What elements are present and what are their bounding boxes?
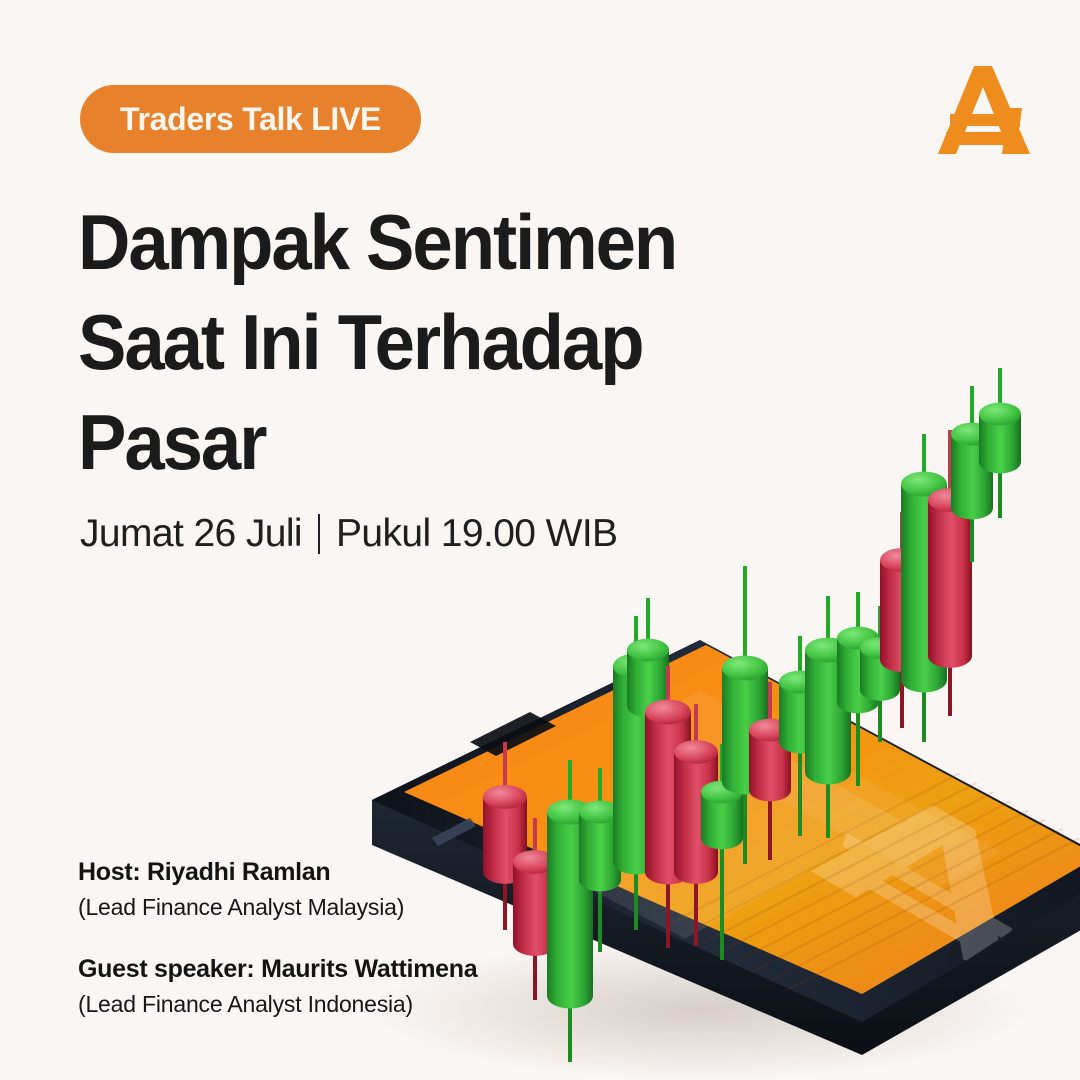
headline-line-1: Dampak Sentimen — [78, 192, 748, 292]
schedule-time: Pukul 19.00 WIB — [336, 512, 617, 556]
candle-1 — [483, 742, 527, 930]
candle-5 — [613, 616, 659, 930]
credit-guest: Guest speaker: Maurits Wattimena (Lead F… — [78, 955, 477, 1018]
candle-14 — [837, 592, 879, 786]
candle-10 — [722, 566, 768, 864]
speaker-credits: Host: Riyadhi Ramlan (Lead Finance Analy… — [78, 858, 477, 1018]
candle-18 — [928, 430, 972, 716]
candle-6 — [627, 598, 669, 760]
candle-15 — [860, 606, 900, 742]
candle-13 — [805, 596, 851, 838]
live-badge-label: Traders Talk LIVE — [120, 101, 381, 138]
candle-16 — [880, 512, 924, 728]
smartphone-icon — [372, 640, 1080, 1058]
credit-guest-role: (Lead Finance Analyst Indonesia) — [78, 991, 477, 1018]
candle-11 — [749, 682, 791, 860]
candle-8 — [674, 704, 718, 946]
candle-2 — [513, 818, 557, 1000]
candle-19 — [951, 386, 993, 562]
letter-a-logo-icon — [934, 58, 1038, 162]
candle-4 — [579, 768, 621, 952]
credit-host-role: (Lead Finance Analyst Malaysia) — [78, 894, 477, 921]
headline-line-3: Pasar — [78, 392, 748, 492]
schedule-separator — [318, 514, 320, 554]
schedule-date: Jumat 26 Juli — [80, 512, 302, 556]
promo-poster: Traders Talk LIVE Dampak Sentimen Saat I… — [0, 0, 1080, 1080]
candle-20 — [979, 368, 1021, 518]
candle-17 — [901, 434, 947, 742]
candle-7 — [645, 666, 691, 948]
candle-9 — [701, 744, 743, 960]
candle-12 — [779, 636, 821, 836]
headline-line-2: Saat Ini Terhadap — [78, 292, 748, 392]
credit-guest-name: Guest speaker: Maurits Wattimena — [78, 955, 477, 984]
credit-host-name: Host: Riyadhi Ramlan — [78, 858, 477, 887]
live-badge: Traders Talk LIVE — [80, 85, 421, 153]
schedule-line: Jumat 26 Juli Pukul 19.00 WIB — [80, 512, 617, 556]
candle-3 — [547, 760, 593, 1062]
credit-host: Host: Riyadhi Ramlan (Lead Finance Analy… — [78, 858, 477, 921]
page-title: Dampak Sentimen Saat Ini Terhadap Pasar — [78, 192, 798, 492]
